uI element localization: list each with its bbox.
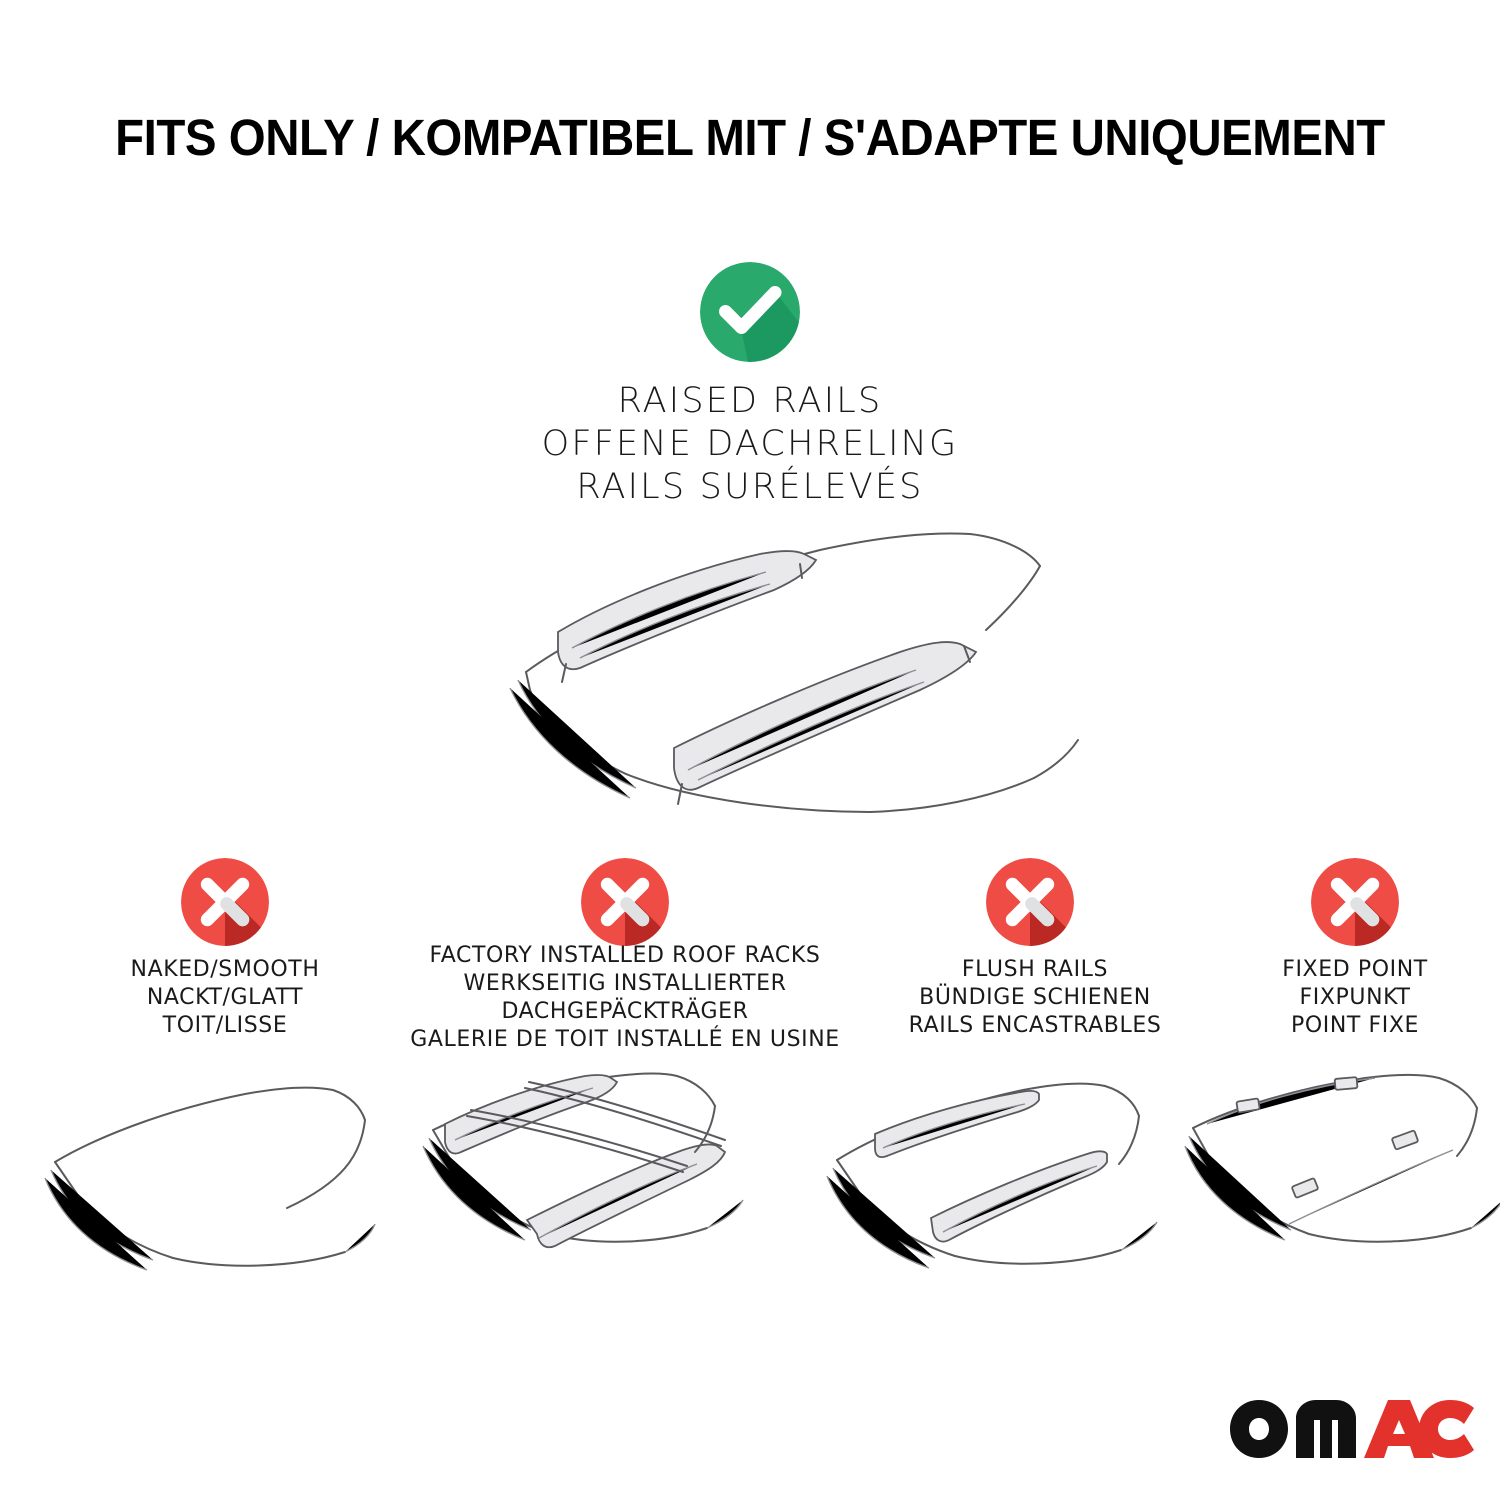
car-roof-factory-installed-roof-racks-illustration bbox=[415, 1068, 760, 1273]
incompatible-label-flush-rails: FLUSH RAILS BÜNDIGE SCHIENEN RAILS ENCAS… bbox=[865, 956, 1205, 1040]
car-roof-with-raised-rails-illustration bbox=[430, 512, 1080, 812]
check-circle-icon bbox=[700, 262, 800, 362]
incompatible-label-factory-roof-racks: FACTORY INSTALLED ROOF RACKS WERKSEITIG … bbox=[405, 942, 845, 1054]
compatible-heading: RAISED RAILS OFFENE DACHRELING RAILS SUR… bbox=[450, 380, 1050, 509]
car-roof-flush-rails-illustration bbox=[825, 1072, 1165, 1272]
car-roof-naked-smooth-illustration bbox=[45, 1072, 375, 1272]
page-title: FITS ONLY / KOMPATIBEL MIT / S'ADAPTE UN… bbox=[53, 108, 1448, 167]
compatibility-infographic: FITS ONLY / KOMPATIBEL MIT / S'ADAPTE UN… bbox=[0, 0, 1500, 1500]
cross-circle-icon bbox=[986, 858, 1074, 946]
cross-circle-icon bbox=[581, 858, 669, 946]
omac-logo bbox=[1228, 1398, 1476, 1460]
incompatible-label-fixed-point: FIXED POINT FIXPUNKT POINT FIXE bbox=[1205, 956, 1500, 1040]
cross-circle-icon bbox=[181, 858, 269, 946]
cross-circle-icon bbox=[1311, 858, 1399, 946]
car-roof-fixed-point-illustration bbox=[1185, 1072, 1500, 1272]
incompatible-label-naked-smooth: NAKED/SMOOTH NACKT/GLATT TOIT/LISSE bbox=[60, 956, 390, 1040]
